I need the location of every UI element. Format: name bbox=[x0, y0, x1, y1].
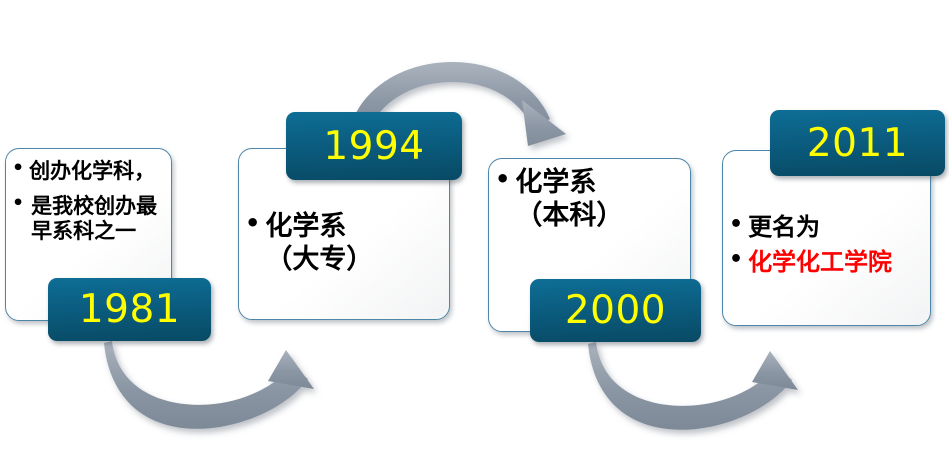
milestone-card-2011[interactable]: • 更名为 • 化学化工学院 bbox=[722, 150, 931, 326]
bullet-icon: • bbox=[729, 213, 743, 236]
year-label: 1981 bbox=[79, 290, 180, 329]
bullet-text: 化学系 （大专） bbox=[265, 211, 443, 277]
list-item: • 更名为 bbox=[729, 213, 924, 242]
bullet-text-line-1: 化学系 bbox=[265, 211, 443, 244]
bullet-icon: • bbox=[12, 194, 24, 214]
year-badge-1981[interactable]: 1981 bbox=[48, 278, 211, 341]
year-label: 2000 bbox=[565, 291, 666, 330]
year-badge-2000[interactable]: 2000 bbox=[530, 279, 701, 342]
bullet-text: 是我校创办最 早系科之一 bbox=[29, 194, 165, 245]
year-badge-1994[interactable]: 1994 bbox=[286, 112, 462, 180]
bullet-text-line-1: 是我校创办最 bbox=[31, 194, 165, 220]
bullet-text: 更名为 bbox=[748, 213, 924, 242]
bullet-text: 创办化学科， bbox=[29, 159, 165, 185]
bullet-text-line-2: （本科） bbox=[515, 200, 684, 233]
bullet-text: 化学系 （本科） bbox=[515, 167, 684, 233]
diagram-canvas: • 创办化学科， • 是我校创办最 早系科之一 1981 • 化学系 （大专） bbox=[0, 0, 949, 469]
list-item: • 化学化工学院 bbox=[729, 248, 924, 277]
arrow-2000-to-2011 bbox=[588, 342, 798, 430]
bullet-icon: • bbox=[245, 211, 260, 236]
bullet-text-line-2: 早系科之一 bbox=[31, 219, 165, 245]
list-item: • 化学系 （大专） bbox=[245, 211, 443, 277]
bullet-icon: • bbox=[495, 167, 510, 192]
bullet-icon: • bbox=[12, 159, 24, 179]
arrow-1981-to-1994 bbox=[104, 341, 314, 429]
list-item: • 是我校创办最 早系科之一 bbox=[12, 194, 165, 245]
list-item: • 化学系 （本科） bbox=[495, 167, 684, 233]
year-badge-2011[interactable]: 2011 bbox=[770, 110, 945, 176]
bullet-text-highlight: 化学化工学院 bbox=[748, 248, 924, 277]
year-label: 2011 bbox=[807, 124, 908, 163]
year-label: 1994 bbox=[323, 127, 424, 166]
list-item: • 创办化学科， bbox=[12, 159, 165, 185]
milestone-bullets: • 化学系 （大专） bbox=[245, 211, 443, 277]
milestone-bullets: • 化学系 （本科） bbox=[495, 167, 684, 233]
bullet-text-line-2: （大专） bbox=[265, 244, 443, 277]
milestone-bullets: • 创办化学科， • 是我校创办最 早系科之一 bbox=[12, 159, 165, 245]
bullet-text-line-1: 化学系 bbox=[515, 167, 684, 200]
milestone-bullets: • 更名为 • 化学化工学院 bbox=[729, 213, 924, 278]
bullet-icon: • bbox=[729, 248, 743, 271]
